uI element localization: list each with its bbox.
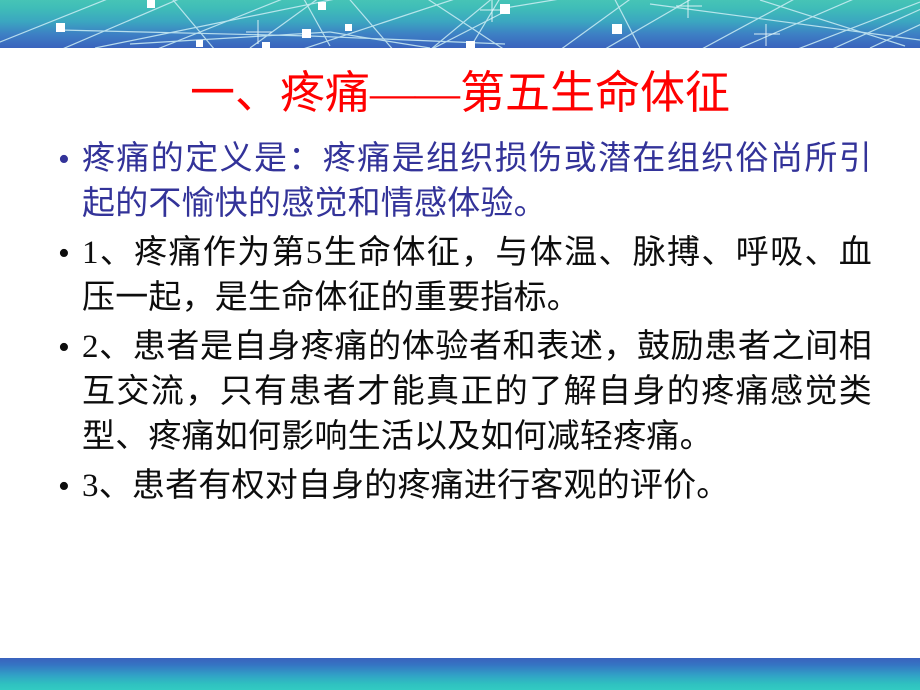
list-item: • 2、患者是自身疼痛的体验者和表述，鼓励患者之间相互交流，只有患者才能真正的了… (52, 325, 882, 460)
bullet-marker-icon: • (52, 464, 82, 509)
list-item: • 疼痛的定义是：疼痛是组织损伤或潜在组织俗尚所引起的不愉快的感觉和情感体验。 (52, 137, 882, 227)
slide-title: 一、疼痛——第五生命体征 (0, 66, 920, 120)
bullet-list: • 疼痛的定义是：疼痛是组织损伤或潜在组织俗尚所引起的不愉快的感觉和情感体验。 … (52, 137, 882, 509)
presentation-slide: 一、疼痛——第五生命体征 • 疼痛的定义是：疼痛是组织损伤或潜在组织俗尚所引起的… (0, 0, 920, 690)
bullet-text: 3、患者有权对自身的疼痛进行客观的评价。 (82, 464, 872, 509)
top-decorative-banner (0, 0, 920, 48)
bullet-text: 1、疼痛作为第5生命体征，与体温、脉搏、呼吸、血压一起，是生命体征的重要指标。 (82, 231, 872, 321)
list-item: • 1、疼痛作为第5生命体征，与体温、脉搏、呼吸、血压一起，是生命体征的重要指标… (52, 231, 882, 321)
list-item: • 3、患者有权对自身的疼痛进行客观的评价。 (52, 464, 882, 509)
bullet-text: 疼痛的定义是：疼痛是组织损伤或潜在组织俗尚所引起的不愉快的感觉和情感体验。 (82, 137, 872, 227)
bullet-marker-icon: • (52, 231, 82, 276)
bottom-decorative-band (0, 658, 920, 690)
bullet-marker-icon: • (52, 325, 82, 370)
network-pattern-graphic (0, 0, 920, 48)
bullet-marker-icon: • (52, 137, 82, 182)
bullet-text: 2、患者是自身疼痛的体验者和表述，鼓励患者之间相互交流，只有患者才能真正的了解自… (82, 325, 872, 460)
